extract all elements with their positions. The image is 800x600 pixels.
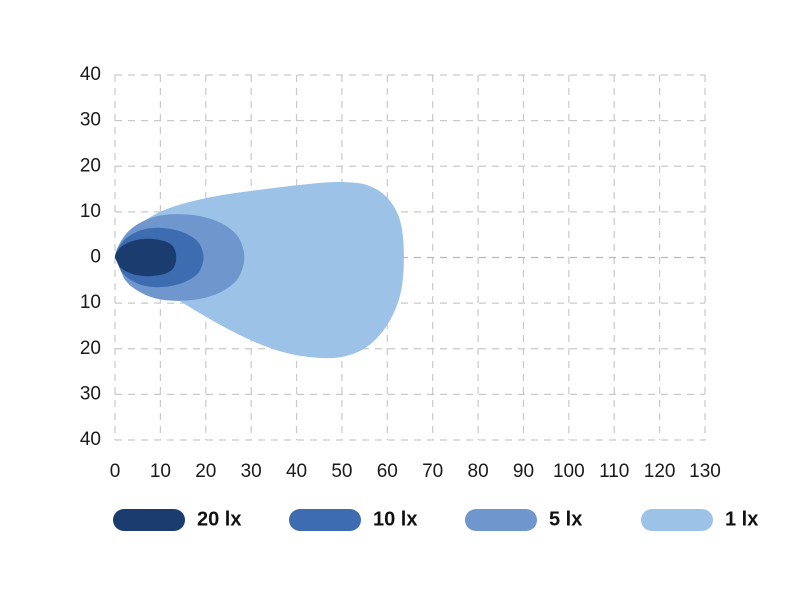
x-tick-label: 30 [241, 461, 262, 482]
y-tick-label: 10 [80, 201, 101, 222]
x-tick-label: 100 [553, 461, 585, 482]
legend-label: 10 lx [373, 508, 417, 530]
legend-item[interactable]: 1 lx [641, 508, 758, 531]
x-tick-label: 130 [689, 461, 721, 482]
x-tick-label: 50 [331, 461, 352, 482]
legend-swatch [113, 509, 185, 531]
x-tick-label: 120 [644, 461, 676, 482]
legend-item[interactable]: 5 lx [465, 508, 582, 531]
x-tick-label: 80 [468, 461, 489, 482]
legend-item[interactable]: 10 lx [289, 508, 417, 531]
legend-item[interactable]: 20 lx [113, 508, 241, 531]
x-tick-label: 40 [286, 461, 307, 482]
y-tick-label: 30 [80, 110, 101, 131]
legend-swatch [289, 509, 361, 531]
y-tick-label: 20 [80, 155, 101, 176]
x-tick-label: 20 [195, 461, 216, 482]
legend-label: 1 lx [725, 508, 758, 530]
y-tick-label: 20 [80, 338, 101, 359]
y-tick-label: 40 [80, 64, 101, 85]
y-tick-label: 10 [80, 292, 101, 313]
chart-svg: 0102030405060708090100110120130 40302010… [0, 0, 800, 600]
y-tick-label: 40 [80, 429, 101, 450]
x-tick-label: 70 [422, 461, 443, 482]
x-tick-label: 60 [377, 461, 398, 482]
x-tick-label: 110 [599, 461, 629, 482]
x-tick-label: 90 [513, 461, 534, 482]
x-tick-label: 0 [110, 461, 121, 482]
legend-label: 5 lx [549, 508, 582, 530]
y-tick-label: 30 [80, 383, 101, 404]
x-tick-label: 10 [150, 461, 171, 482]
legend-swatch [465, 509, 537, 531]
legend-swatch [641, 509, 713, 531]
legend-label: 20 lx [197, 508, 241, 530]
y-tick-label: 0 [90, 247, 101, 268]
light-distribution-chart: 0102030405060708090100110120130 40302010… [0, 0, 800, 600]
